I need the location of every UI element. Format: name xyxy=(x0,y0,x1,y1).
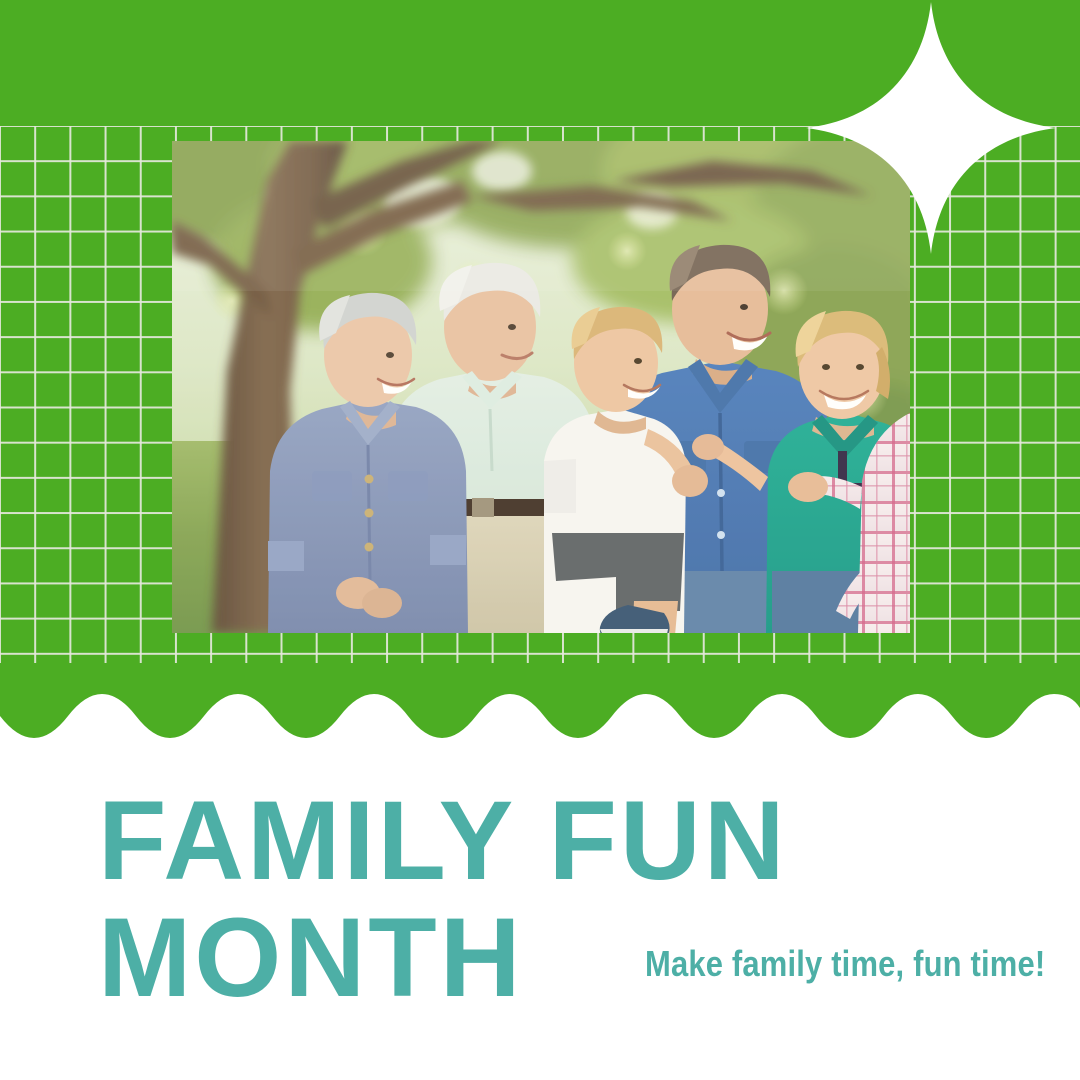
family-photo xyxy=(172,141,910,633)
tagline: Make family time, fun time! xyxy=(645,944,1045,984)
poster-canvas: FAMILY FUN MONTH Make family time, fun t… xyxy=(0,0,1080,1080)
headline-area: FAMILY FUN MONTH Make family time, fun t… xyxy=(0,740,1080,1080)
green-header-panel xyxy=(0,0,1080,740)
scalloped-wave-divider xyxy=(0,690,1080,740)
